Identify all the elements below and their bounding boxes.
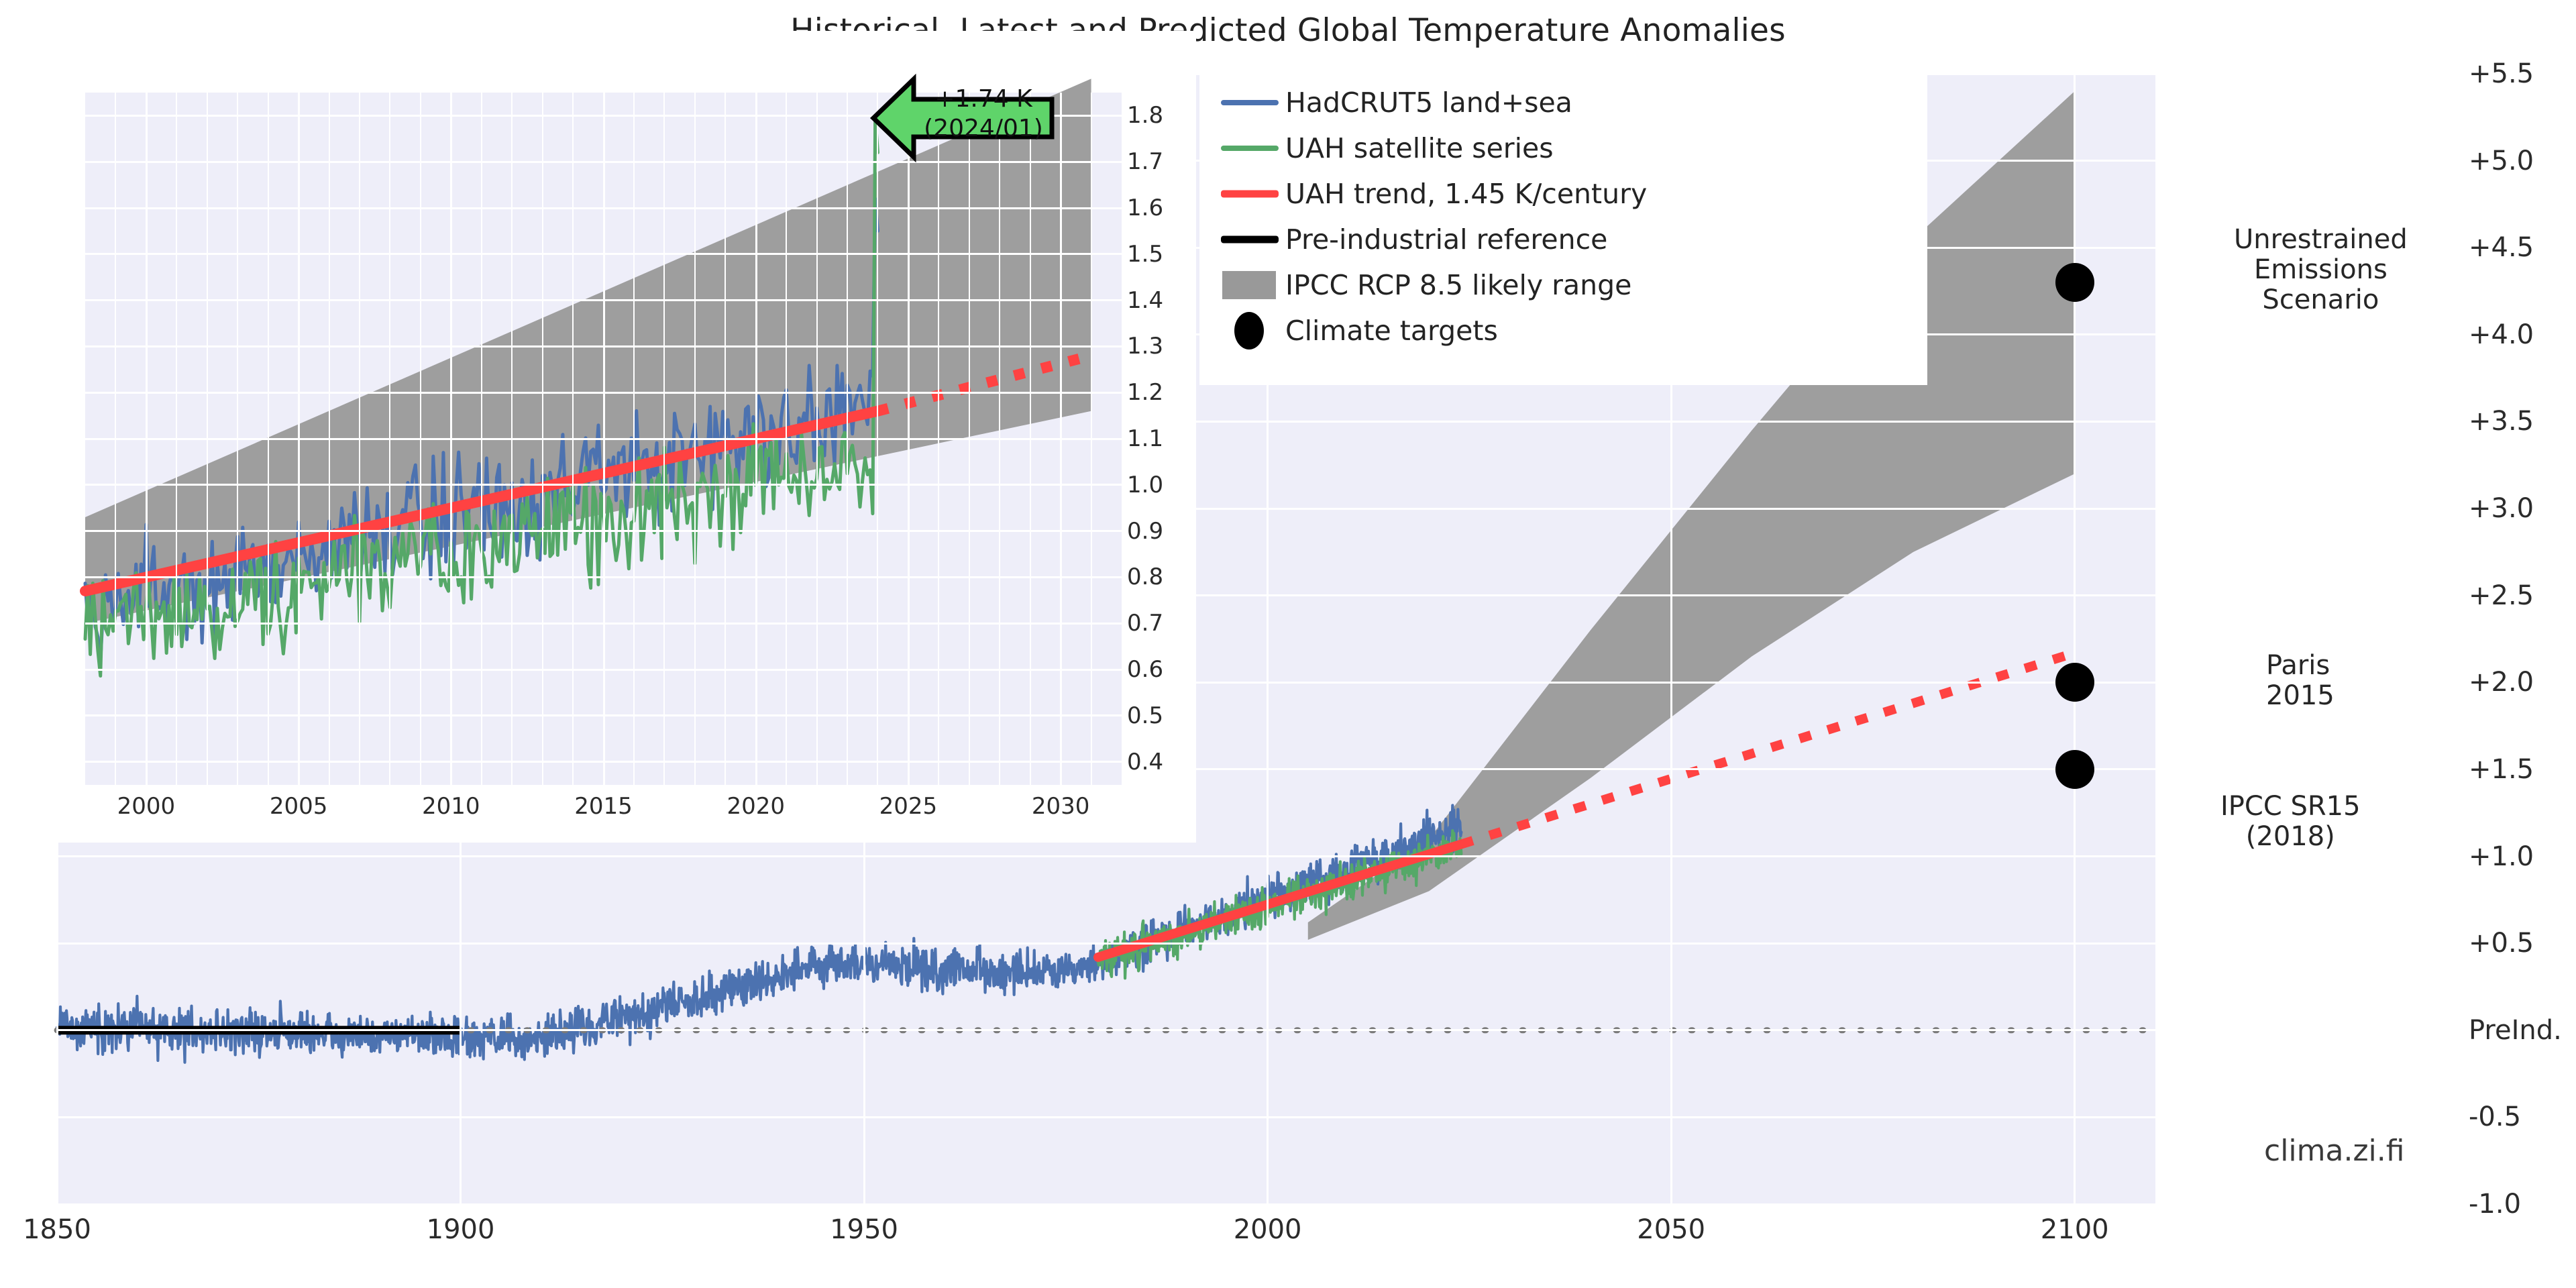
main-gridline-v — [2074, 74, 2076, 1204]
climate-target-dot-2 — [2055, 750, 2094, 789]
inset-ytick-1_4: 1.4 — [1127, 287, 1163, 314]
legend-item-label: Climate targets — [1285, 315, 1498, 347]
inset-ytick-0_6: 0.6 — [1127, 656, 1163, 683]
main-gridline-h — [57, 1116, 2155, 1118]
main-ytick-25: +2.5 — [2469, 580, 2534, 611]
inset-xtick-2015: 2015 — [574, 793, 633, 820]
watermark: clima.zi.fi — [2264, 1134, 2404, 1168]
main-ytick-10: +1.0 — [2469, 841, 2534, 872]
legend-swatch-icon — [1214, 217, 1285, 262]
legend-swatch-icon — [1214, 172, 1285, 216]
main-xtick-2050: 2050 — [1637, 1214, 1705, 1245]
legend-item-1[interactable]: UAH satellite series — [1214, 126, 1554, 170]
main-ytick-PreInd: PreInd. — [2469, 1015, 2562, 1046]
inset-plot-area — [85, 93, 1122, 785]
legend-band-icon — [1222, 271, 1276, 299]
legend-line-icon — [1221, 146, 1279, 151]
latest-value-callout: +1.74 K (2024/01) — [872, 71, 1053, 165]
legend-swatch-icon — [1214, 263, 1285, 307]
inset-ytick-0_9: 0.9 — [1127, 518, 1163, 545]
main-gridline-h — [57, 943, 2155, 945]
inset-ytick-1_8: 1.8 — [1127, 102, 1163, 129]
inset-ytick-1_0: 1.0 — [1127, 472, 1163, 498]
main-ytick-20: +2.0 — [2469, 667, 2534, 698]
main-gridline-h — [57, 1029, 2155, 1031]
inset-xtick-2000: 2000 — [117, 793, 176, 820]
main-gridline-h — [57, 855, 2155, 857]
inset-gridline-h — [85, 345, 1122, 347]
legend-line-icon — [1221, 236, 1279, 244]
inset-gridline-h — [85, 669, 1122, 671]
climate-target-dot-0 — [2055, 263, 2094, 302]
main-xtick-2000: 2000 — [1234, 1214, 1302, 1245]
main-ytick-10: -1.0 — [2469, 1189, 2521, 1220]
annotation-paris-2015: Paris 2015 — [2266, 651, 2334, 711]
legend-swatch-icon — [1214, 309, 1285, 353]
inset-ytick-1_2: 1.2 — [1127, 379, 1163, 406]
legend-swatch-icon — [1214, 80, 1285, 125]
legend-item-label: Pre-industrial reference — [1285, 223, 1607, 256]
main-xtick-1900: 1900 — [427, 1214, 495, 1245]
legend-item-label: UAH trend, 1.45 K/century — [1285, 178, 1647, 210]
inset-xtick-2020: 2020 — [727, 793, 785, 820]
main-ytick-30: +3.0 — [2469, 493, 2534, 524]
inset-gridline-h — [85, 623, 1122, 625]
legend-item-2[interactable]: UAH trend, 1.45 K/century — [1214, 172, 1647, 216]
legend-item-label: IPCC RCP 8.5 likely range — [1285, 269, 1631, 301]
inset-ytick-0_4: 0.4 — [1127, 749, 1163, 775]
main-ytick-05: -0.5 — [2469, 1102, 2521, 1132]
inset-ytick-0_8: 0.8 — [1127, 563, 1163, 590]
inset-gridline-h — [85, 530, 1122, 532]
callout-text: +1.74 K (2024/01) — [918, 85, 1049, 144]
inset-xtick-2025: 2025 — [879, 793, 938, 820]
main-xtick-2100: 2100 — [2041, 1214, 2109, 1245]
legend-item-label: HadCRUT5 land+sea — [1285, 87, 1572, 119]
legend-item-0[interactable]: HadCRUT5 land+sea — [1214, 80, 1572, 125]
inset-gridline-h — [85, 576, 1122, 578]
hadcrut5-line — [57, 805, 1461, 1062]
inset-ytick-0_7: 0.7 — [1127, 610, 1163, 637]
inset-ytick-1_3: 1.3 — [1127, 333, 1163, 360]
legend-dot-icon — [1234, 312, 1264, 350]
main-xtick-1950: 1950 — [830, 1214, 898, 1245]
main-ytick-15: +1.5 — [2469, 754, 2534, 785]
legend-line-icon — [1221, 100, 1279, 105]
inset-gridline-h — [85, 438, 1122, 440]
climate-target-dot-1 — [2055, 663, 2094, 702]
annotation-unrestrained-emissions: Unrestrained Emissions Scenario — [2234, 225, 2408, 315]
inset-ytick-0_5: 0.5 — [1127, 702, 1163, 729]
climate-chart-figure: Historical, Latest and Predicted Global … — [0, 0, 2576, 1288]
inset-ytick-1_7: 1.7 — [1127, 148, 1163, 175]
inset-gridline-h — [85, 207, 1122, 209]
inset-gridline-h — [85, 253, 1122, 255]
main-ytick-45: +4.5 — [2469, 232, 2534, 263]
legend-item-5[interactable]: Climate targets — [1214, 309, 1498, 353]
legend-item-3[interactable]: Pre-industrial reference — [1214, 217, 1607, 262]
inset-gridline-h — [85, 484, 1122, 486]
main-ytick-55: +5.5 — [2469, 58, 2534, 89]
main-xtick-1850: 1850 — [23, 1214, 91, 1245]
annotation-ipcc-sr15: IPCC SR15 (2018) — [2220, 792, 2361, 852]
legend-item-label: UAH satellite series — [1285, 132, 1554, 164]
legend-line-icon — [1221, 191, 1279, 198]
legend-item-4[interactable]: IPCC RCP 8.5 likely range — [1214, 263, 1631, 307]
legend-swatch-icon — [1214, 126, 1285, 170]
inset-gridline-h — [85, 392, 1122, 394]
legend: HadCRUT5 land+seaUAH satellite seriesUAH… — [1199, 64, 1927, 385]
inset-gridline-h — [85, 761, 1122, 763]
inset-ytick-1_1: 1.1 — [1127, 425, 1163, 452]
main-ytick-05: +0.5 — [2469, 928, 2534, 959]
inset-ytick-1_5: 1.5 — [1127, 241, 1163, 268]
inset-gridline-h — [85, 714, 1122, 716]
inset-gridline-h — [85, 299, 1122, 301]
uah-trend-solid — [1098, 844, 1461, 957]
main-ytick-40: +4.0 — [2469, 319, 2534, 350]
inset-xtick-2005: 2005 — [270, 793, 328, 820]
inset-xtick-2010: 2010 — [422, 793, 480, 820]
main-ytick-35: +3.5 — [2469, 406, 2534, 437]
inset-xtick-2030: 2030 — [1032, 793, 1090, 820]
main-ytick-50: +5.0 — [2469, 146, 2534, 176]
main-gridline-h — [57, 1203, 2155, 1205]
inset-ytick-1_6: 1.6 — [1127, 195, 1163, 221]
